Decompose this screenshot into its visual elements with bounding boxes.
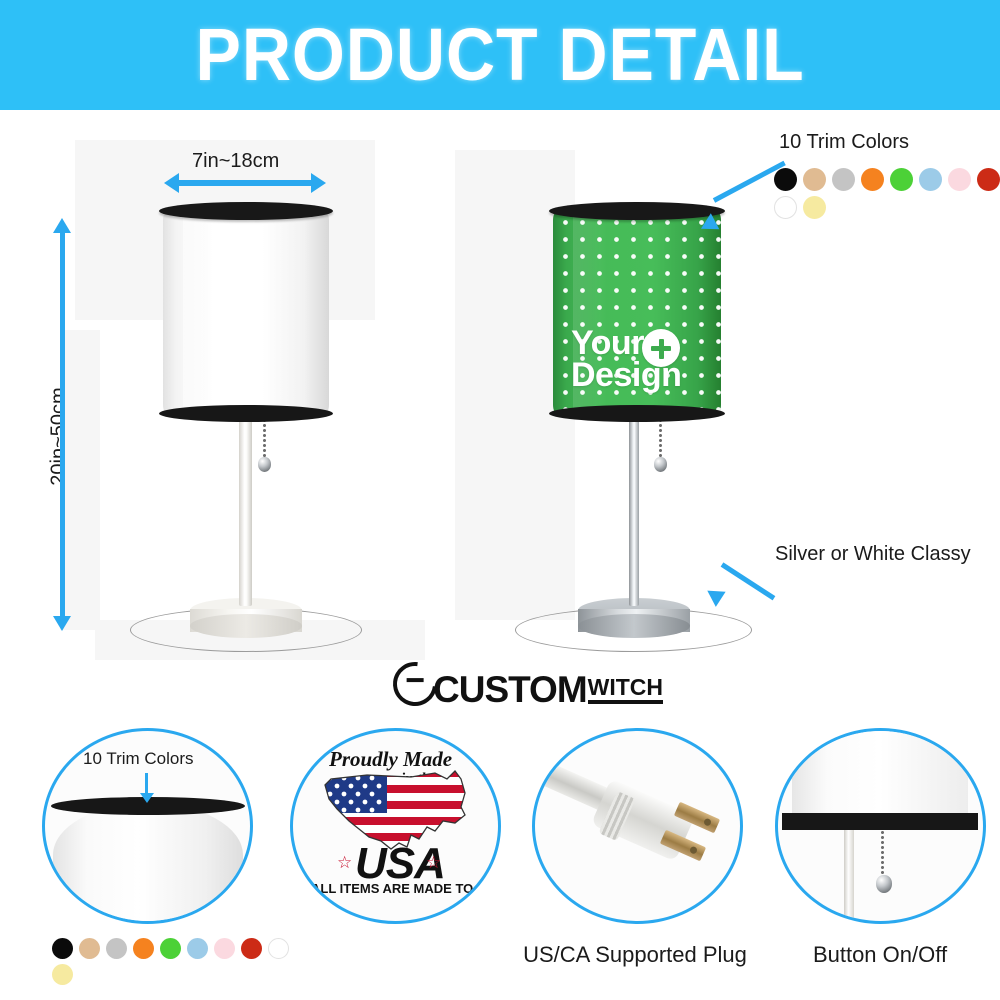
shade-closeup-body — [53, 803, 243, 924]
pull-chain-knob-white — [258, 457, 271, 472]
plus-icon — [642, 329, 680, 367]
brand-logo: CUSTOM WITCH — [393, 662, 663, 706]
shade-trim-top-green — [549, 202, 725, 220]
caption-plug: US/CA Supported Plug — [500, 942, 770, 968]
width-dimension-arrow — [178, 180, 312, 186]
lamp-pole-white — [239, 418, 252, 606]
trim-swatch-yellow[interactable] — [52, 964, 73, 985]
trim-swatch-green[interactable] — [890, 168, 913, 191]
trim-swatch-orange[interactable] — [133, 938, 154, 959]
shade-trim-bottom-green — [549, 405, 725, 422]
trim-swatch-white[interactable] — [268, 938, 289, 959]
trim-swatch-yellow[interactable] — [803, 196, 826, 219]
trim-swatch-black[interactable] — [52, 938, 73, 959]
page-title: PRODUCT DETAIL — [195, 18, 804, 92]
trim-swatch-tan[interactable] — [803, 168, 826, 191]
feature-made-in-usa: Proudly Made in the — [290, 728, 501, 924]
trim-color-swatches-bottom[interactable] — [52, 938, 300, 990]
trim-swatch-pink[interactable] — [214, 938, 235, 959]
logo-custom-text: CUSTOM — [433, 674, 587, 706]
pull-chain-knob-silver — [654, 457, 667, 472]
shade-trim-top-white — [159, 202, 333, 220]
trim-swatch-tan[interactable] — [79, 938, 100, 959]
product-detail-infographic: PRODUCT DETAIL 7in~18cm 20in~50cm — [0, 0, 1000, 1000]
logo-witch-text: WITCH — [588, 677, 663, 698]
trim-swatch-green[interactable] — [160, 938, 181, 959]
trim-swatch-red[interactable] — [241, 938, 262, 959]
trim-swatch-gray[interactable] — [832, 168, 855, 191]
lampshade-green: Your Design — [553, 210, 721, 415]
trim-swatch-light-blue[interactable] — [919, 168, 942, 191]
feature-plug — [532, 728, 743, 924]
usa-star-left: ☆ — [337, 853, 352, 873]
feature-switch — [775, 728, 986, 924]
trim-swatch-black[interactable] — [774, 168, 797, 191]
usa-star-right: ☆ — [426, 853, 441, 873]
usa-subtitle: ALL ITEMS ARE MADE TO ORDER! — [311, 881, 501, 896]
trim-swatch-pink[interactable] — [948, 168, 971, 191]
height-dimension-label: 20in~50cm — [48, 372, 71, 502]
trim-swatch-orange[interactable] — [861, 168, 884, 191]
trim-swatch-white[interactable] — [774, 196, 797, 219]
caption-switch: Button On/Off — [780, 942, 980, 968]
trim-down-arrow-head — [140, 793, 154, 803]
trim-swatch-gray[interactable] — [106, 938, 127, 959]
lamp-pole-silver — [629, 418, 639, 606]
switch-shade-trim — [782, 813, 978, 830]
height-dimension-arrow — [60, 232, 65, 617]
lampshade-white — [163, 210, 329, 415]
trim-swatch-red[interactable] — [977, 168, 1000, 191]
switch-chain-knob — [876, 875, 892, 893]
switch-pole — [844, 830, 854, 921]
feature-trim-colors-caption: 10 Trim Colors — [83, 749, 194, 769]
switch-shade-bottom — [792, 728, 968, 817]
width-dimension-label: 7in~18cm — [192, 150, 279, 173]
shade-trim-bottom-white — [159, 405, 333, 422]
base-finish-label: Silver or White Classy — [775, 543, 971, 566]
header-banner: PRODUCT DETAIL — [0, 0, 1000, 110]
trim-color-swatches-top[interactable] — [774, 168, 1000, 224]
trim-down-arrow-shaft — [145, 773, 148, 795]
trim-swatch-light-blue[interactable] — [187, 938, 208, 959]
logo-underline — [588, 700, 663, 704]
trim-colors-label-top: 10 Trim Colors — [779, 131, 909, 154]
feature-trim-colors: 10 Trim Colors — [42, 728, 253, 924]
